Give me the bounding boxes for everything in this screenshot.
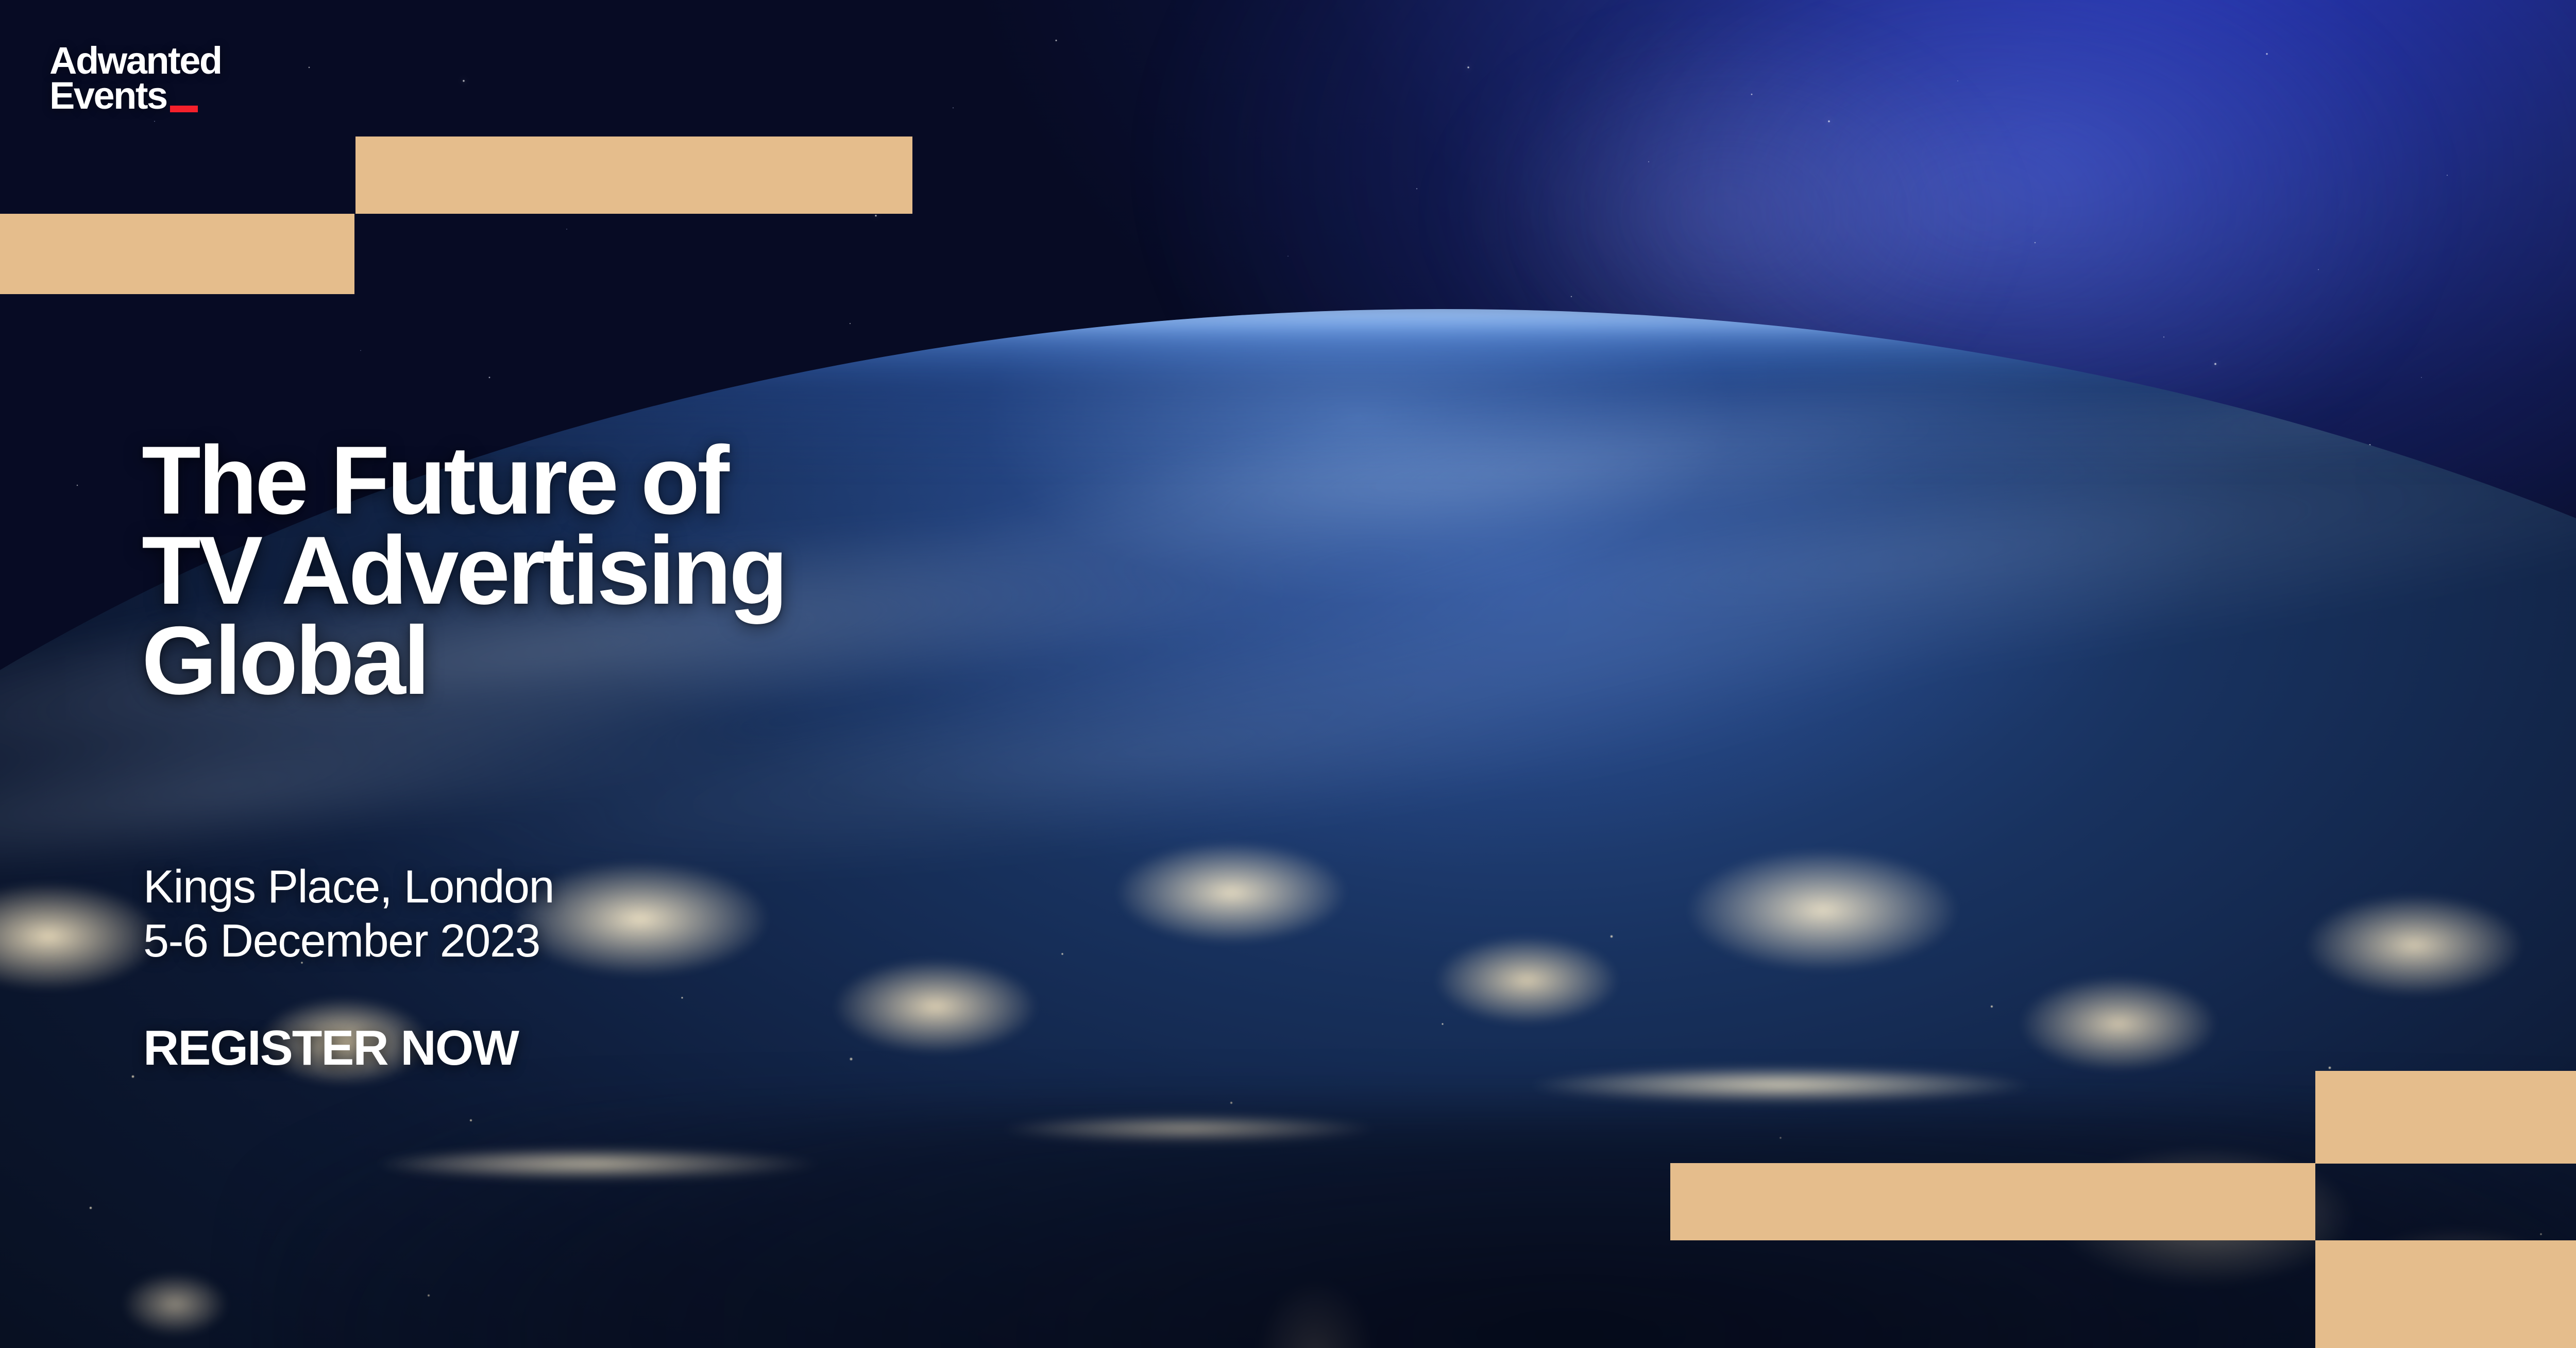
event-details: Kings Place, London 5-6 December 2023 [143,860,554,969]
event-dates: 5-6 December 2023 [143,914,554,968]
atmosphere-limb-highlight [0,309,2576,404]
event-promo-banner: Adwanted Events The Future of TV Adverti… [0,0,2576,1348]
event-venue: Kings Place, London [143,860,554,914]
tan-block-bottom-lower [2315,1240,2576,1348]
register-now-button[interactable]: REGISTER NOW [143,1020,518,1077]
red-underscore-icon [170,106,198,112]
tan-block-bottom-middle [1670,1163,2315,1240]
adwanted-events-logo[interactable]: Adwanted Events [49,43,222,113]
tan-block-bottom-upper [2315,1071,2576,1164]
page-title: The Future of TV Advertising Global [142,435,786,705]
tan-block-top-right-of-logo [355,136,912,214]
title-line-3: Global [142,606,428,714]
hero-text-block: The Future of TV Advertising Global [142,435,786,705]
logo-line-events: Events [49,74,167,117]
logo-line-events-row: Events [49,78,167,113]
tan-block-under-logo [0,214,354,294]
logo-line-adwanted: Adwanted [49,43,222,78]
